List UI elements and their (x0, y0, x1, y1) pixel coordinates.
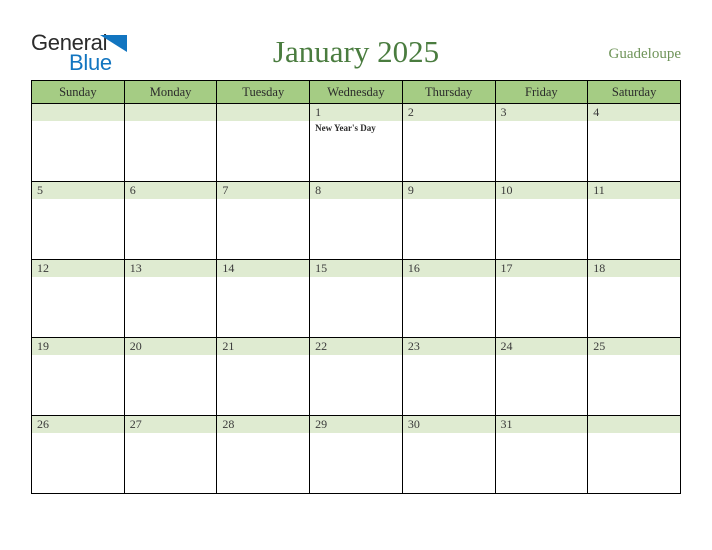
day-cell-inner: 22 (310, 338, 402, 415)
day-cell-inner: 14 (217, 260, 309, 337)
day-number: 3 (501, 105, 507, 120)
calendar-page: General Blue January 2025 Guadeloupe Sun… (0, 0, 712, 550)
calendar-day-cell[interactable]: 21 (217, 338, 310, 416)
calendar-week-row: 19202122232425 (32, 338, 681, 416)
calendar-week-row: 567891011 (32, 182, 681, 260)
day-number: 10 (501, 183, 513, 198)
day-number-band (496, 104, 588, 121)
day-number: 19 (37, 339, 49, 354)
calendar-day-cell[interactable]: 28 (217, 416, 310, 494)
calendar-empty-cell (588, 416, 681, 494)
day-number-band (310, 182, 402, 199)
holiday-event-label: New Year's Day (315, 123, 399, 134)
weekday-header-monday: Monday (124, 81, 217, 104)
day-event-list: New Year's Day (315, 123, 399, 135)
day-cell-inner: 16 (403, 260, 495, 337)
day-number: 21 (222, 339, 234, 354)
day-number: 14 (222, 261, 234, 276)
calendar-day-cell[interactable]: 7 (217, 182, 310, 260)
day-number: 23 (408, 339, 420, 354)
day-number: 22 (315, 339, 327, 354)
weekday-header-sunday: Sunday (32, 81, 125, 104)
day-number: 25 (593, 339, 605, 354)
weekday-header-friday: Friday (495, 81, 588, 104)
calendar-day-cell[interactable]: 9 (402, 182, 495, 260)
calendar-day-cell[interactable]: 26 (32, 416, 125, 494)
day-cell-inner: 19 (32, 338, 124, 415)
day-number: 30 (408, 417, 420, 432)
day-number: 29 (315, 417, 327, 432)
calendar-day-cell[interactable]: 3 (495, 104, 588, 182)
day-number-band (217, 104, 309, 121)
calendar-body: 1New Year's Day2345678910111213141516171… (32, 104, 681, 494)
day-cell-inner (588, 416, 680, 493)
day-number-band (588, 104, 680, 121)
day-number-band (32, 104, 124, 121)
day-number: 1 (315, 105, 321, 120)
day-cell-inner (125, 104, 217, 181)
day-cell-inner: 1New Year's Day (310, 104, 402, 181)
day-number: 18 (593, 261, 605, 276)
day-number: 16 (408, 261, 420, 276)
calendar-day-cell[interactable]: 25 (588, 338, 681, 416)
day-cell-inner: 10 (496, 182, 588, 259)
day-number: 31 (501, 417, 513, 432)
day-number: 27 (130, 417, 142, 432)
weekday-header-wednesday: Wednesday (310, 81, 403, 104)
day-cell-inner: 18 (588, 260, 680, 337)
day-number: 8 (315, 183, 321, 198)
day-cell-inner (32, 104, 124, 181)
day-cell-inner: 30 (403, 416, 495, 493)
day-cell-inner: 21 (217, 338, 309, 415)
day-number: 11 (593, 183, 605, 198)
day-cell-inner: 23 (403, 338, 495, 415)
calendar-day-cell[interactable]: 4 (588, 104, 681, 182)
calendar-day-cell[interactable]: 10 (495, 182, 588, 260)
calendar-day-cell[interactable]: 15 (310, 260, 403, 338)
calendar-day-cell[interactable]: 29 (310, 416, 403, 494)
day-cell-inner: 25 (588, 338, 680, 415)
calendar-day-cell[interactable]: 27 (124, 416, 217, 494)
day-number-band (403, 104, 495, 121)
calendar-day-cell[interactable]: 23 (402, 338, 495, 416)
day-cell-inner: 20 (125, 338, 217, 415)
calendar-day-cell[interactable]: 6 (124, 182, 217, 260)
day-number: 12 (37, 261, 49, 276)
day-cell-inner: 7 (217, 182, 309, 259)
day-cell-inner: 15 (310, 260, 402, 337)
day-cell-inner: 17 (496, 260, 588, 337)
calendar-week-row: 1New Year's Day234 (32, 104, 681, 182)
calendar-day-cell[interactable]: 17 (495, 260, 588, 338)
day-number: 6 (130, 183, 136, 198)
calendar-day-cell[interactable]: 12 (32, 260, 125, 338)
calendar-day-cell[interactable]: 5 (32, 182, 125, 260)
calendar-day-cell[interactable]: 31 (495, 416, 588, 494)
day-cell-inner: 4 (588, 104, 680, 181)
day-cell-inner: 9 (403, 182, 495, 259)
calendar-day-cell[interactable]: 14 (217, 260, 310, 338)
calendar-week-row: 262728293031 (32, 416, 681, 494)
calendar-day-cell[interactable]: 1New Year's Day (310, 104, 403, 182)
weekday-header-row: Sunday Monday Tuesday Wednesday Thursday… (32, 81, 681, 104)
calendar-empty-cell (124, 104, 217, 182)
day-cell-inner: 29 (310, 416, 402, 493)
calendar-week-row: 12131415161718 (32, 260, 681, 338)
day-number: 13 (130, 261, 142, 276)
calendar-grid: Sunday Monday Tuesday Wednesday Thursday… (31, 80, 681, 494)
day-cell-inner: 3 (496, 104, 588, 181)
day-number: 2 (408, 105, 414, 120)
weekday-header-saturday: Saturday (588, 81, 681, 104)
day-cell-inner (217, 104, 309, 181)
calendar-day-cell[interactable]: 18 (588, 260, 681, 338)
day-number: 15 (315, 261, 327, 276)
day-number: 24 (501, 339, 513, 354)
calendar-day-cell[interactable]: 30 (402, 416, 495, 494)
day-cell-inner: 13 (125, 260, 217, 337)
day-number: 17 (501, 261, 513, 276)
day-number: 28 (222, 417, 234, 432)
day-number-band (125, 104, 217, 121)
day-cell-inner: 5 (32, 182, 124, 259)
day-number: 20 (130, 339, 142, 354)
day-cell-inner: 27 (125, 416, 217, 493)
day-number-band (217, 182, 309, 199)
day-number: 7 (222, 183, 228, 198)
page-title: January 2025 (31, 34, 681, 70)
day-cell-inner: 26 (32, 416, 124, 493)
day-number-band (310, 104, 402, 121)
day-cell-inner: 31 (496, 416, 588, 493)
day-cell-inner: 8 (310, 182, 402, 259)
calendar-empty-cell (32, 104, 125, 182)
day-number: 5 (37, 183, 43, 198)
day-cell-inner: 6 (125, 182, 217, 259)
calendar-day-cell[interactable]: 2 (402, 104, 495, 182)
day-number: 9 (408, 183, 414, 198)
day-number-band (125, 182, 217, 199)
calendar-day-cell[interactable]: 22 (310, 338, 403, 416)
calendar-day-cell[interactable]: 24 (495, 338, 588, 416)
day-number: 26 (37, 417, 49, 432)
calendar-day-cell[interactable]: 16 (402, 260, 495, 338)
calendar-day-cell[interactable]: 8 (310, 182, 403, 260)
day-cell-inner: 11 (588, 182, 680, 259)
weekday-header-tuesday: Tuesday (217, 81, 310, 104)
page-header: General Blue January 2025 Guadeloupe (31, 28, 681, 76)
day-cell-inner: 2 (403, 104, 495, 181)
day-number: 4 (593, 105, 599, 120)
calendar-day-cell[interactable]: 19 (32, 338, 125, 416)
day-number-band (588, 416, 680, 433)
day-number-band (32, 182, 124, 199)
calendar-day-cell[interactable]: 11 (588, 182, 681, 260)
country-label: Guadeloupe (609, 45, 681, 63)
weekday-header-thursday: Thursday (402, 81, 495, 104)
day-cell-inner: 24 (496, 338, 588, 415)
day-cell-inner: 12 (32, 260, 124, 337)
calendar-day-cell[interactable]: 20 (124, 338, 217, 416)
day-cell-inner: 28 (217, 416, 309, 493)
day-number-band (403, 182, 495, 199)
calendar-empty-cell (217, 104, 310, 182)
calendar-day-cell[interactable]: 13 (124, 260, 217, 338)
